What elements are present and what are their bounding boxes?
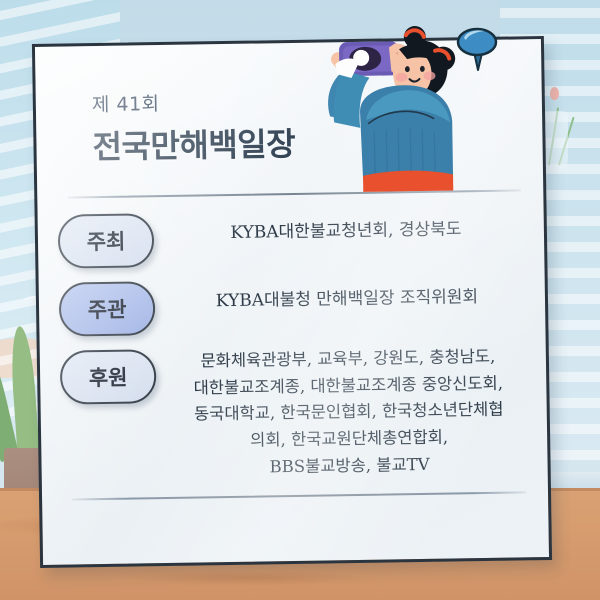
sponsor-values: 문화체육관광부, 교육부, 강원도, 충청남도, 대한불교조계종, 대한불교조계… xyxy=(176,341,548,482)
badge-organizer[interactable]: 주관 xyxy=(59,281,156,337)
badge-host-label: 주최 xyxy=(86,226,125,257)
badge-host[interactable]: 주최 xyxy=(58,213,155,269)
info-row-host: 주최 KYBA대한불교청년회, 경상북도 xyxy=(38,205,545,269)
badge-organizer-label: 주관 xyxy=(88,294,127,325)
organizer-values: KYBA대불청 만해백일장 조직위원회 xyxy=(175,273,546,316)
sponsor-line: BBS불교방송, 불교TV xyxy=(177,450,521,482)
info-rows: 주최 KYBA대한불교청년회, 경상북도 주관 KYBA대불청 만해백일장 xyxy=(38,205,548,497)
poster-screenshot: 제 41회 전국만해백일장 주최 KYBA대한불교청년회, 경상북도 xyxy=(0,0,600,600)
info-row-sponsor: 후원 문화체육관광부, 교육부, 강원도, 충청남도, 대한불교조계종, 대한불… xyxy=(40,341,548,485)
host-values: KYBA대한불교청년회, 경상북도 xyxy=(174,205,545,248)
person-with-camera-illustration xyxy=(303,18,466,204)
sponsor-line: 동국대학교, 한국문인협회, 한국청소년단체협 xyxy=(177,397,521,429)
organizer-line: KYBA대불청 만해백일장 조직위원회 xyxy=(175,283,519,316)
badge-sponsor-label: 후원 xyxy=(89,362,128,393)
host-line: KYBA대한불교청년회, 경상북도 xyxy=(174,215,518,248)
badge-cell: 후원 xyxy=(40,347,177,405)
flower-bud xyxy=(550,87,559,100)
pushpin-icon xyxy=(452,26,500,72)
info-row-organizer: 주관 KYBA대불청 만해백일장 조직위원회 xyxy=(39,273,546,337)
title-block: 제 41회 전국만해백일장 xyxy=(36,83,543,169)
badge-cell: 주최 xyxy=(38,211,175,269)
badge-sponsor[interactable]: 후원 xyxy=(60,349,157,405)
badge-cell: 주관 xyxy=(39,279,176,337)
poster-paper: 제 41회 전국만해백일장 주최 KYBA대한불교청년회, 경상북도 xyxy=(32,36,552,568)
